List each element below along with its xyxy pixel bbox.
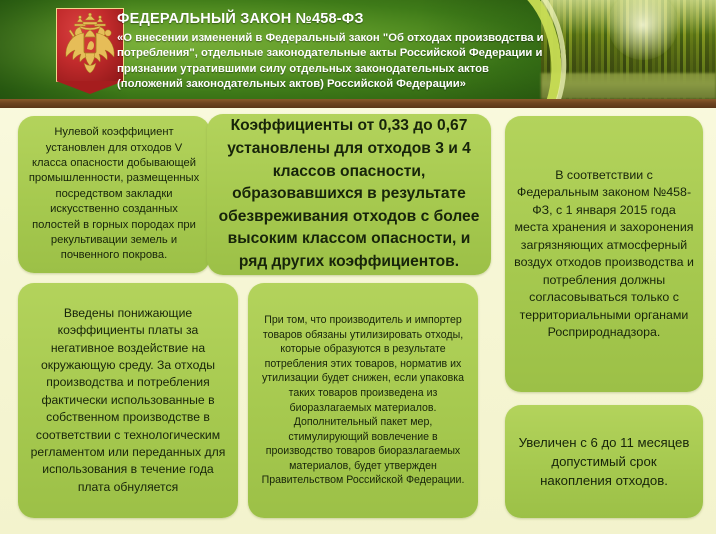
info-card-text: Введены понижающие коэффициенты платы за… [27, 305, 229, 496]
info-card-reduction-coefficients: Введены понижающие коэффициенты платы за… [18, 283, 238, 518]
russian-coat-of-arms-emblem [56, 8, 124, 94]
info-card-text: Коэффициенты от 0,33 до 0,67 установлены… [216, 115, 482, 273]
infographic-page: ФЕДЕРАЛЬНЫЙ ЗАКОН №458-ФЗ «О внесении из… [0, 0, 716, 534]
info-card-accumulation-period: Увеличен с 6 до 11 месяцев допустимый ср… [505, 405, 703, 518]
law-title: ФЕДЕРАЛЬНЫЙ ЗАКОН №458-ФЗ [117, 10, 547, 28]
forest-path [541, 73, 716, 99]
info-card-text: Увеличен с 6 до 11 месяцев допустимый ср… [514, 433, 694, 490]
info-card-text: Нулевой коэффициент установлен для отход… [27, 125, 201, 264]
info-card-coefficients: Коэффициенты от 0,33 до 0,67 установлены… [207, 114, 491, 275]
forest-photo [541, 0, 716, 99]
info-card-text: В соответствии с Федеральным законом №45… [514, 167, 694, 342]
info-card-recycling-standard: При том, что производитель и импортер то… [248, 283, 478, 518]
info-card-zero-coefficient: Нулевой коэффициент установлен для отход… [18, 116, 210, 273]
wood-strip-divider [0, 99, 716, 108]
double-headed-eagle-icon [60, 13, 120, 87]
info-card-storage-approval: В соответствии с Федеральным законом №45… [505, 116, 703, 392]
header-text-block: ФЕДЕРАЛЬНЫЙ ЗАКОН №458-ФЗ «О внесении из… [117, 10, 547, 93]
law-subtitle: «О внесении изменений в Федеральный зако… [117, 31, 547, 93]
info-card-text: При том, что производитель и импортер то… [257, 313, 469, 488]
sun-glow [608, 0, 678, 60]
